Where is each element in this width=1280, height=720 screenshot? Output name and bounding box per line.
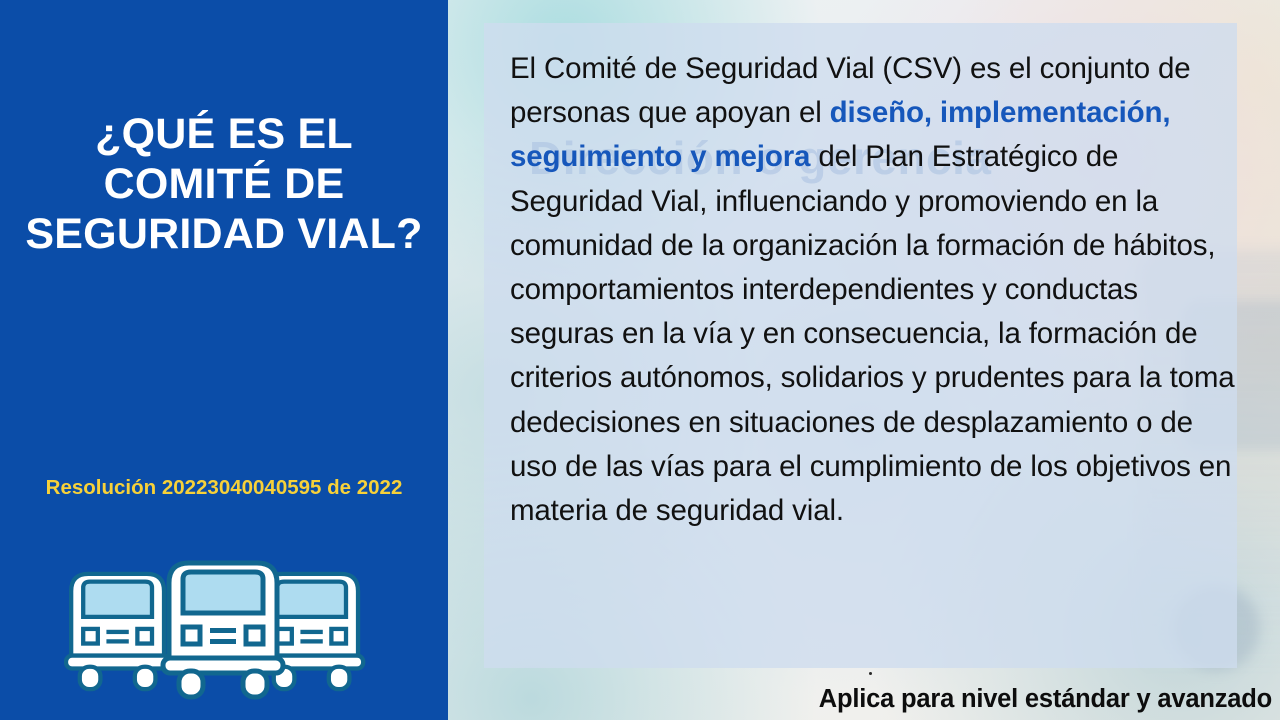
buses-svg — [64, 555, 384, 705]
footer-dot — [869, 672, 872, 675]
resolution-subtitle: Resolución 20223040040595 de 2022 — [30, 473, 418, 502]
body-paragraph: El Comité de Seguridad Vial (CSV) es el … — [510, 47, 1238, 533]
paragraph-run: del Plan Estratégico de Seguridad Vial, … — [510, 140, 1235, 527]
content-panel: Dirección o gerencia El Comité de Seguri… — [484, 23, 1237, 668]
three-buses-icon — [0, 555, 448, 705]
slide-root: Dirección o gerencia El Comité de Seguri… — [0, 0, 1280, 720]
bus-left — [66, 574, 169, 689]
footer-note: Aplica para nivel estándar y avanzado — [448, 685, 1272, 714]
page-title: ¿QUÉ ES EL COMITÉ DE SEGURIDAD VIAL? — [24, 110, 424, 260]
left-blue-panel: ¿QUÉ ES EL COMITÉ DE SEGURIDAD VIAL? Res… — [0, 0, 448, 720]
bus-center — [163, 563, 283, 697]
